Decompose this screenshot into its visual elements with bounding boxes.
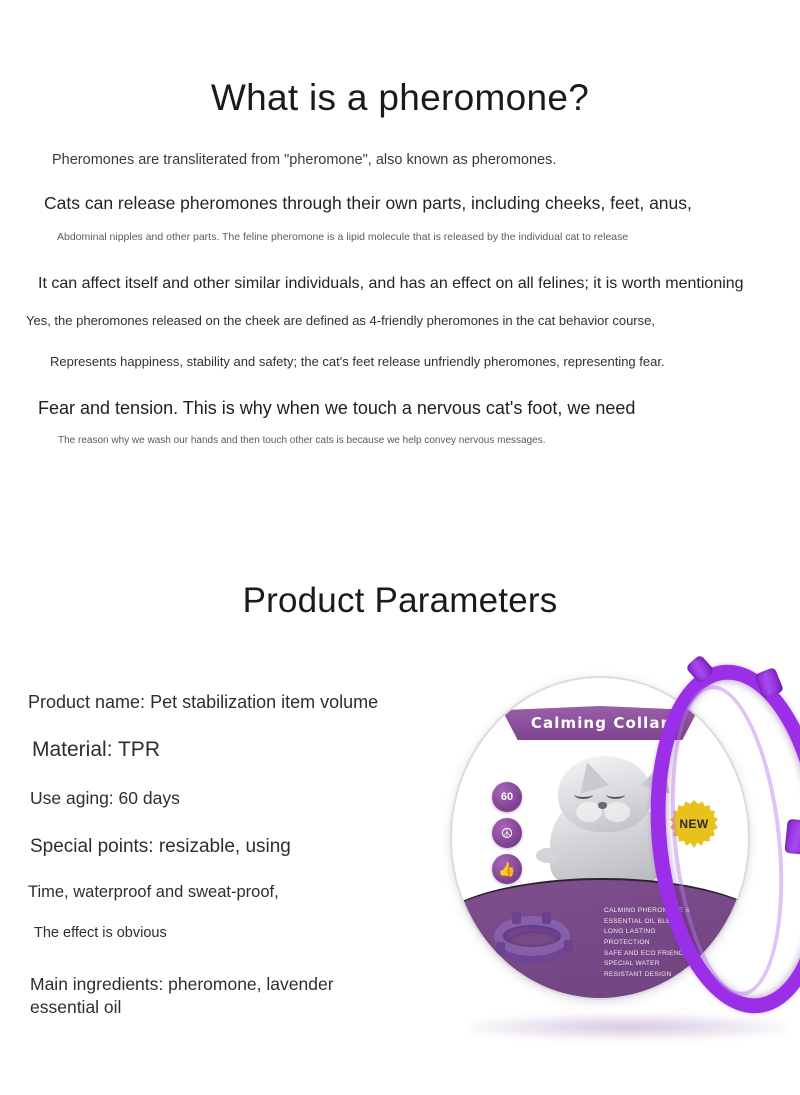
mini-collar-tab-1 (512, 912, 521, 924)
cat-nose-icon (598, 802, 607, 809)
pheromone-text-line-4: It can affect itself and other similar i… (38, 275, 744, 293)
pheromone-text-line-1: Pheromones are transliterated from "pher… (52, 152, 556, 168)
cat-head-shape (558, 756, 652, 832)
product-drop-shadow (468, 1014, 788, 1040)
pheromone-text-line-6: Represents happiness, stability and safe… (50, 354, 665, 369)
cat-muzzle-right (604, 802, 630, 822)
spec-special-points: Special points: resizable, using (30, 836, 291, 858)
spec-product-name: Product name: Pet stabilization item vol… (28, 692, 378, 713)
spec-main-ingredients: Main ingredients: pheromone, lavender es… (30, 973, 370, 1020)
cat-badge-glyph: ☮ (501, 826, 514, 840)
product-photo: Calming Collar 60 (440, 656, 800, 1076)
mini-collar-tab-3 (496, 942, 505, 954)
duration-badge-label: 60 (501, 791, 513, 803)
mini-collar-loop-inner (494, 916, 570, 956)
duration-badge-icon: 60 (492, 782, 522, 812)
pheromone-text-line-8: The reason why we wash our hands and the… (58, 435, 546, 446)
spec-use-aging: Use aging: 60 days (30, 788, 180, 809)
spec-material: Material: TPR (32, 738, 160, 762)
pheromone-text-line-5: Yes, the pheromones released on the chee… (26, 313, 655, 328)
pheromone-info-section: What is a pheromone? Pheromones are tran… (0, 0, 800, 470)
page-title-pheromone: What is a pheromone? (0, 77, 800, 119)
mini-collar-tab-2 (542, 912, 551, 924)
product-parameters-section: Product Parameters Product name: Pet sta… (0, 470, 800, 1095)
cat-ear-left-icon (573, 758, 610, 793)
thumbs-up-glyph: 👍 (498, 862, 515, 876)
mini-collar-tab-4 (564, 940, 573, 952)
collar-product-thumbnail (494, 912, 578, 968)
pheromone-text-line-7: Fear and tension. This is why when we to… (38, 398, 635, 419)
collar-buckle-icon (784, 819, 800, 856)
spec-time-proof: Time, waterproof and sweat-proof, (28, 883, 279, 902)
spec-effect: The effect is obvious (34, 925, 167, 941)
cat-badge-icon: ☮ (492, 818, 522, 848)
thumbs-up-badge-icon: 👍 (492, 854, 522, 884)
package-badge-list: 60 ☮ 👍 (492, 782, 522, 884)
cat-paw-shape (536, 848, 558, 863)
page-title-product-parameters: Product Parameters (0, 581, 800, 621)
package-banner-title: Calming Collar (531, 714, 669, 732)
cat-eye-left-icon (574, 790, 593, 799)
cat-eye-right-icon (606, 790, 625, 799)
pheromone-text-line-3: Abdominal nipples and other parts. The f… (57, 231, 628, 243)
pheromone-text-line-2: Cats can release pheromones through thei… (44, 193, 692, 214)
